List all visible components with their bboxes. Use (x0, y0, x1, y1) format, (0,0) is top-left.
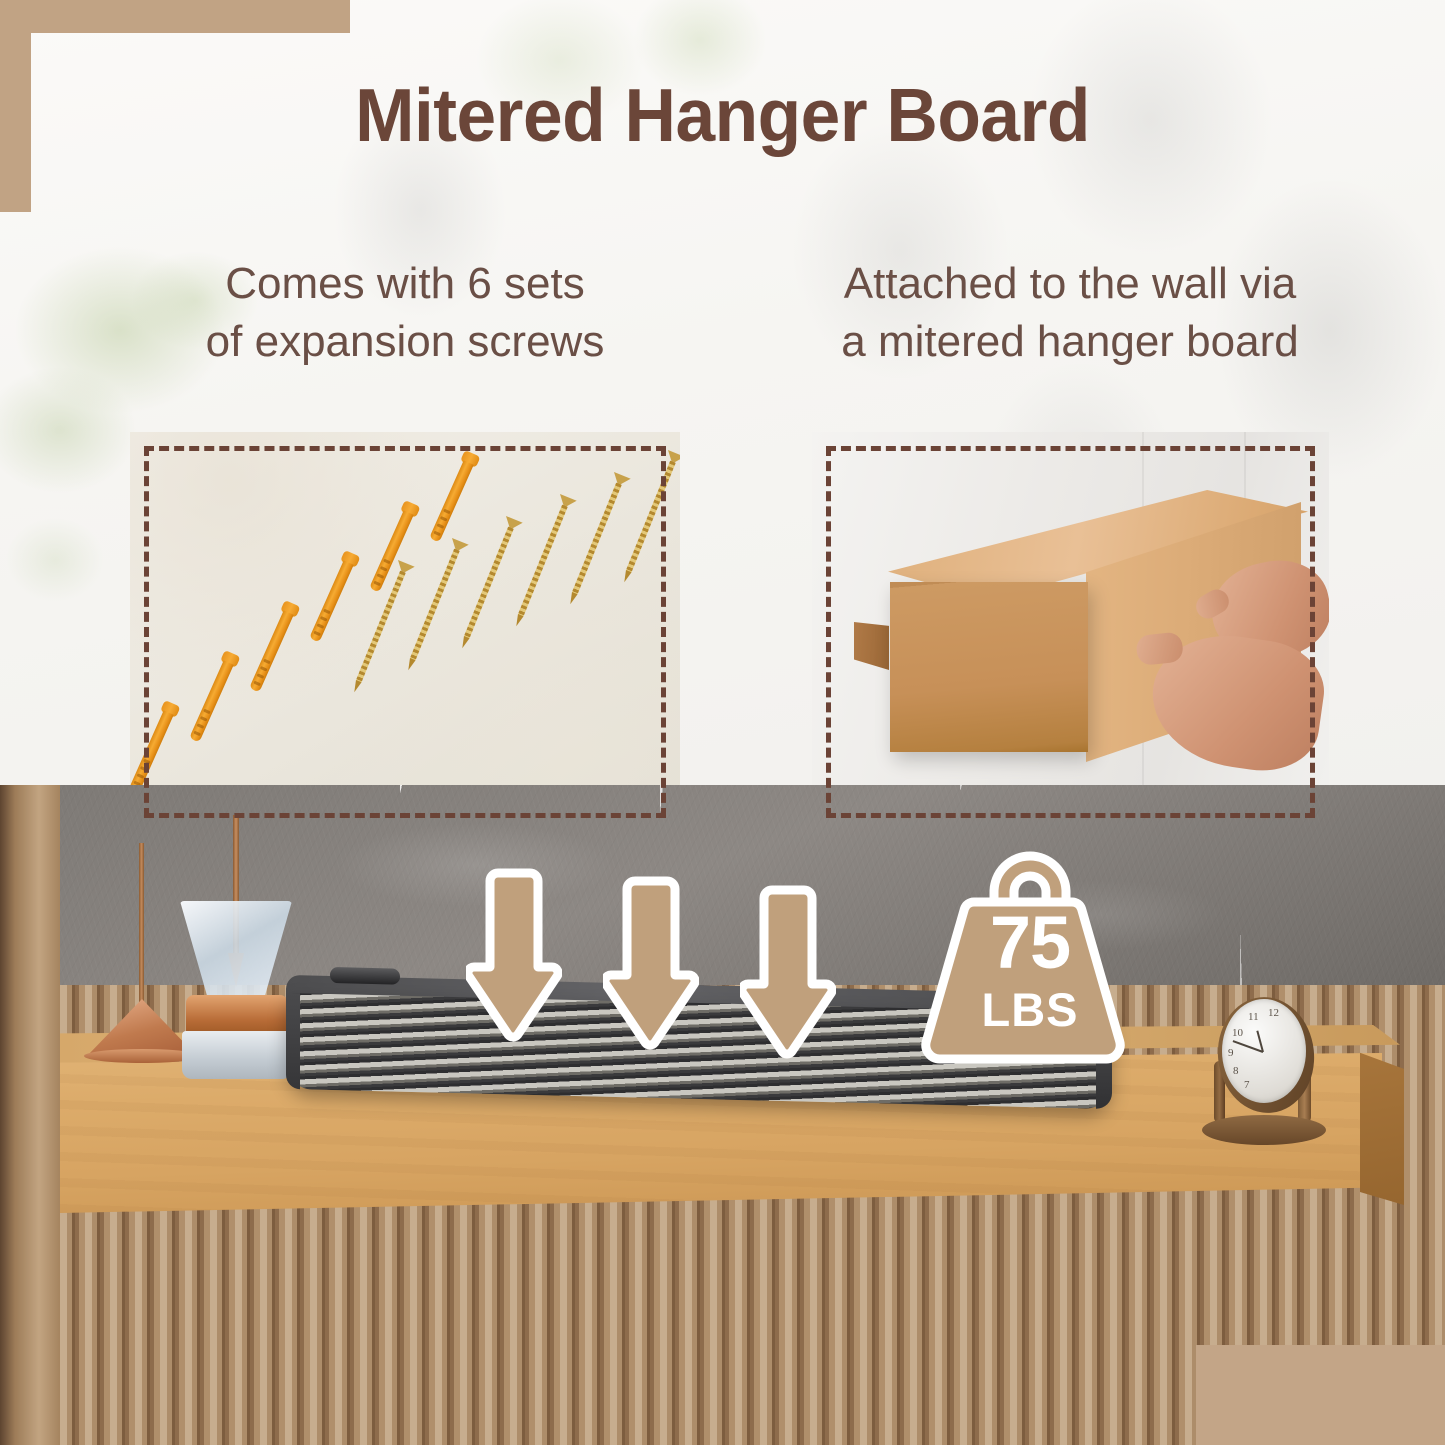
photo-surface (130, 432, 680, 832)
desk-clock: 12 11 10 9 8 7 (1194, 981, 1334, 1151)
feature-photo-screws (130, 432, 680, 832)
infographic-canvas: Mitered Hanger Board Comes with 6 sets o… (0, 0, 1445, 1445)
corner-accent-top-left-vertical (0, 0, 31, 212)
arrow-down-icon (740, 882, 836, 1062)
weight-value: 75 (912, 906, 1148, 980)
wall-edge-post (0, 785, 60, 1445)
caption-line-2: a mitered hanger board (745, 313, 1395, 371)
caption-line-1: Attached to the wall via (745, 255, 1395, 313)
arrow-down-icon (466, 865, 562, 1045)
feature-photo-hanger-board (812, 432, 1329, 832)
page-title: Mitered Hanger Board (36, 78, 1409, 153)
weight-capacity-badge: 75 LBS (912, 846, 1148, 1068)
corner-accent-bottom-right (1196, 1345, 1445, 1445)
feature-caption-hanger-board: Attached to the wall via a mitered hange… (745, 255, 1395, 371)
feature-caption-screws: Comes with 6 sets of expansion screws (105, 255, 705, 371)
corner-accent-top-left-horizontal (0, 0, 350, 33)
board-front-face (890, 582, 1088, 752)
weight-unit: LBS (912, 986, 1148, 1033)
shelf-end-cap (1360, 1043, 1404, 1205)
decor-stem (139, 843, 144, 1003)
arrow-down-icon (603, 873, 699, 1053)
soundbar-control (330, 967, 400, 985)
caption-line-2: of expansion screws (105, 313, 705, 371)
finger (1135, 631, 1184, 666)
clock-face: 12 11 10 9 8 7 (1222, 999, 1306, 1103)
clock-base (1202, 1115, 1326, 1145)
caption-line-1: Comes with 6 sets (105, 255, 705, 313)
decor-silver-base (182, 1031, 292, 1079)
